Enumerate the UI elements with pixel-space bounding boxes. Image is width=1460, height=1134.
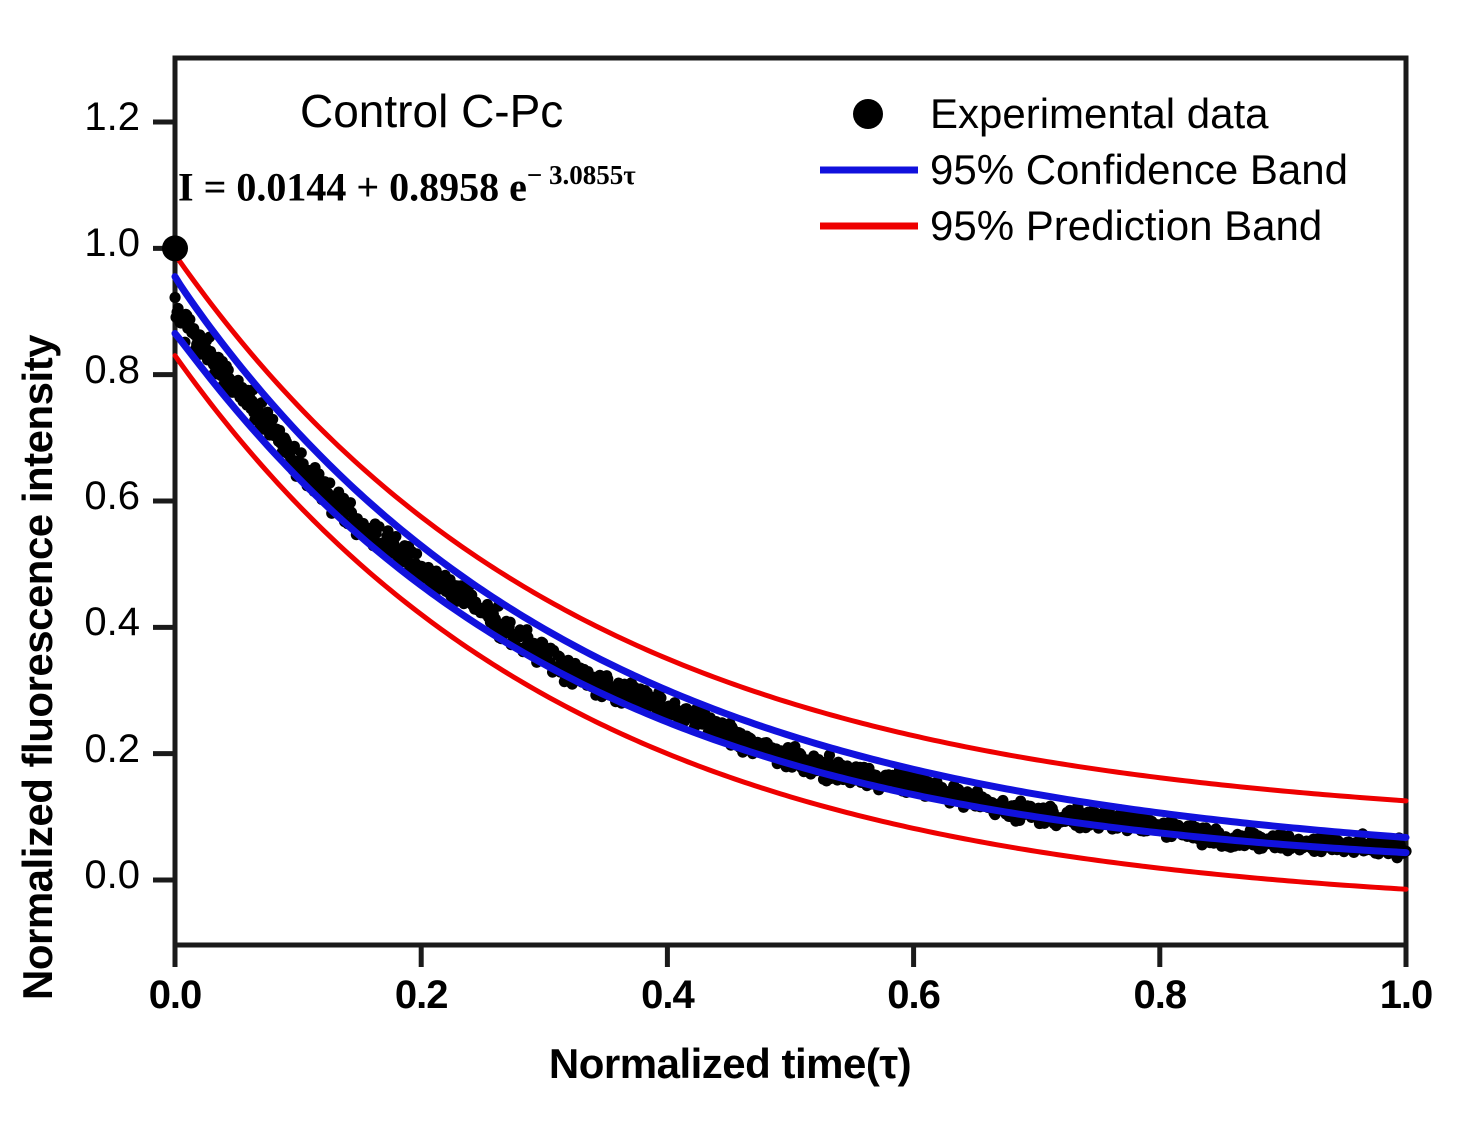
y-axis-ticks [153,122,175,880]
x-tick-label: 1.0 [1346,973,1460,1018]
y-tick-label: 1.2 [20,95,140,140]
experimental-data-points [162,235,1412,863]
x-tick-label: 0.0 [115,973,235,1018]
legend-label-prediction-band: 95% Prediction Band [930,202,1322,250]
legend-label-confidence-band: 95% Confidence Band [930,146,1348,194]
x-axis-label: Normalized time(τ) [0,1040,1460,1088]
prediction-band-lines [175,255,1406,890]
legend-dot-marker [853,99,883,129]
confidence-band-lower [175,333,1406,852]
fit-equation-annotation: I = 0.0144 + 0.8958 e− 3.0855τ [178,162,636,210]
y-tick-label: 0.4 [20,600,140,645]
y-tick-label: 0.6 [20,474,140,519]
scatter-first-point [162,235,188,261]
legend-markers [820,99,918,226]
y-axis-label: Normalized fluorescence intensity [14,335,62,1000]
equation-body: I = 0.0144 + 0.8958 e [178,164,527,209]
y-tick-label: 1.0 [20,221,140,266]
x-tick-label: 0.4 [607,973,727,1018]
equation-exponent: − 3.0855τ [527,160,636,190]
x-tick-label: 0.8 [1100,973,1220,1018]
legend-label-experimental-data: Experimental data [930,90,1269,138]
x-tick-label: 0.6 [854,973,974,1018]
y-tick-label: 0.0 [20,853,140,898]
y-tick-label: 0.8 [20,348,140,393]
chart-title: Control C-Pc [300,84,563,138]
y-tick-label: 0.2 [20,727,140,772]
scatter-point-cloud [169,292,1411,863]
x-tick-label: 0.2 [361,973,481,1018]
x-axis-ticks [175,945,1406,967]
prediction-band-lower [175,356,1406,890]
figure-container: Control C-Pc I = 0.0144 + 0.8958 e− 3.08… [0,0,1460,1134]
